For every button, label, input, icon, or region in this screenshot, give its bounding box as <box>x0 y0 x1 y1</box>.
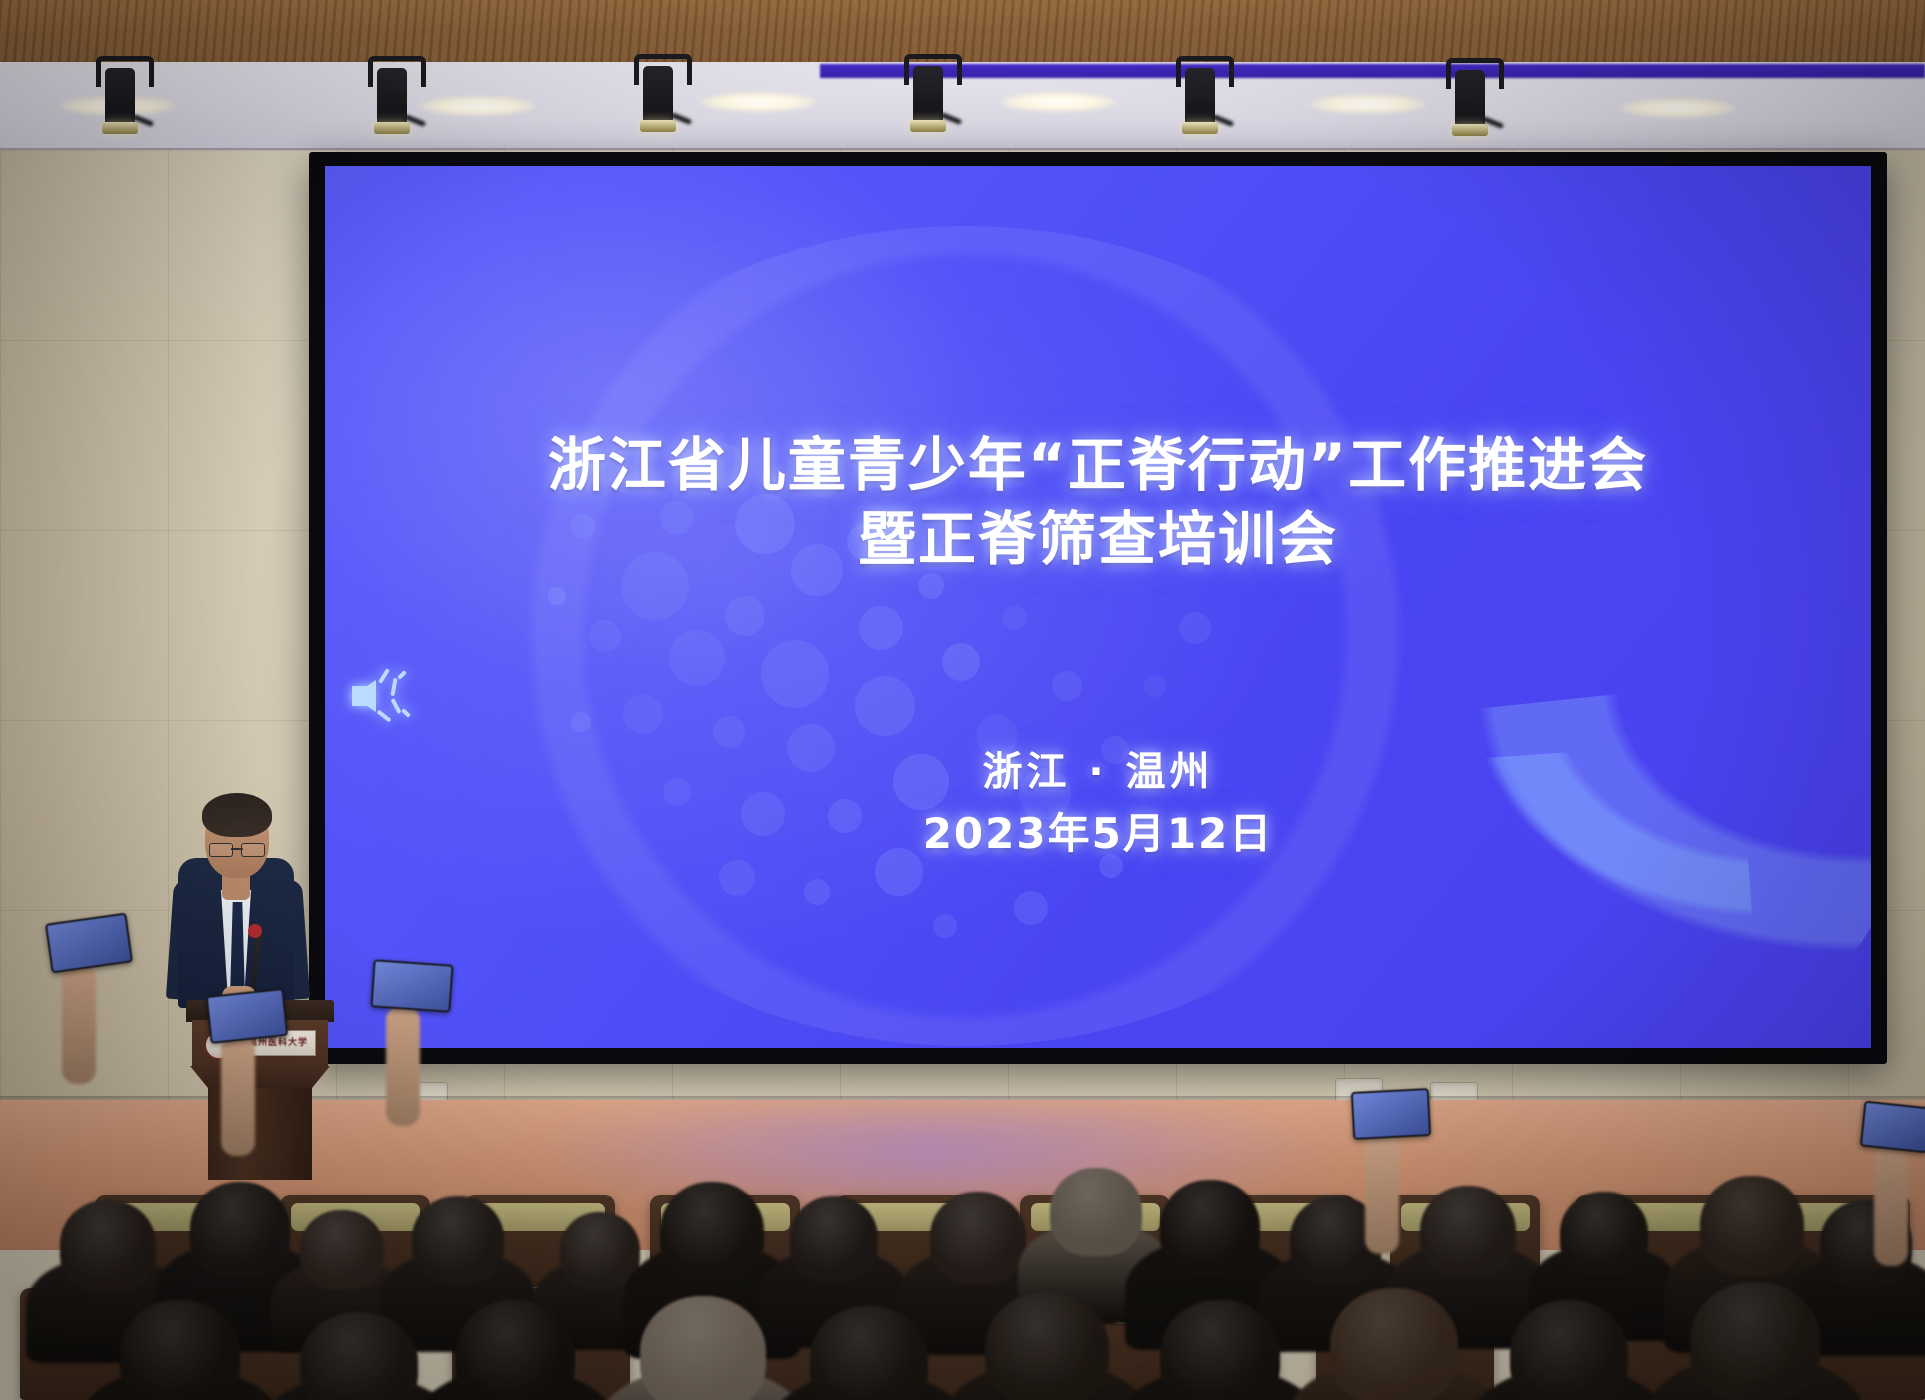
slide-date: 2023年5月12日 <box>325 806 1871 862</box>
audience-head-7 <box>790 1196 878 1282</box>
screen-bubble-16 <box>623 694 663 734</box>
screen-bubble-35 <box>548 587 566 605</box>
screen-bubble-14 <box>859 606 903 650</box>
sound-wave-5 <box>397 670 407 680</box>
screen-bubble-39 <box>1014 891 1048 925</box>
spotlight-body <box>1455 70 1485 132</box>
audience-smartphone-4 <box>1351 1088 1431 1140</box>
slide-title: 浙江省儿童青少年“正脊行动”工作推进会 暨正脊筛查培训会 <box>325 428 1871 576</box>
speaker-cone-shape <box>352 680 376 712</box>
podium-skirt <box>190 1066 330 1090</box>
audience-head-6 <box>660 1182 764 1282</box>
eyeglasses-icon <box>209 843 265 856</box>
audience-smartphone-2 <box>206 988 289 1044</box>
audience-head-17 <box>300 1312 418 1400</box>
audience-head-18 <box>455 1300 575 1400</box>
conference-photo-scene: 浙江省儿童青少年“正脊行动”工作推进会 暨正脊筛查培训会 浙江 · 温州 202… <box>0 0 1925 1400</box>
audience-head-9 <box>1050 1168 1142 1256</box>
audience-head-4 <box>412 1196 504 1284</box>
recessed-light-4 <box>1000 92 1116 112</box>
sound-wave-4 <box>376 709 391 722</box>
audience-smartphone-3 <box>370 959 453 1012</box>
audience-head-20 <box>810 1306 928 1400</box>
screen-bubble-decoration <box>325 166 1871 1048</box>
recessed-light-3 <box>700 92 816 112</box>
ceiling-blue-light-strip <box>820 64 1925 78</box>
recessed-light-5 <box>1310 94 1426 114</box>
led-screen-frame: 浙江省儿童青少年“正脊行动”工作推进会 暨正脊筛查培训会 浙江 · 温州 202… <box>309 152 1887 1064</box>
screen-bubble-21 <box>1003 606 1027 630</box>
screen-bubble-36 <box>1144 675 1166 697</box>
screen-bubble-12 <box>669 630 725 686</box>
sound-wave-2 <box>390 678 397 696</box>
sound-wave-3 <box>390 698 401 714</box>
spotlight-body <box>643 66 673 128</box>
audience-raised-arm-5 <box>1874 1146 1908 1266</box>
audience-head-25 <box>1690 1282 1820 1400</box>
screen-bubble-29 <box>804 879 830 905</box>
recessed-light-6 <box>1620 98 1736 118</box>
audience-smartphone-5 <box>1860 1101 1925 1154</box>
spotlight-body <box>105 68 135 130</box>
screen-bubble-28 <box>719 860 755 896</box>
microphone-head-icon <box>248 924 262 938</box>
spotlight-body <box>1185 68 1215 130</box>
audience-head-12 <box>1420 1186 1516 1278</box>
audience-raised-arm-1 <box>62 964 96 1084</box>
screen-bubble-15 <box>918 573 944 599</box>
spotlight-lens <box>910 120 946 132</box>
audience-head-19 <box>640 1296 766 1400</box>
sound-wave-1 <box>378 668 390 684</box>
screen-bubble-19 <box>855 676 915 736</box>
screen-bubble-13 <box>761 640 829 708</box>
audience-head-24 <box>1510 1300 1628 1400</box>
spotlight-lens <box>1452 124 1488 136</box>
audience-head-23 <box>1330 1288 1458 1400</box>
spotlight-lens <box>1182 122 1218 134</box>
screen-bubble-11 <box>589 620 621 652</box>
presenter-hair <box>202 793 272 837</box>
audience-head-16 <box>120 1300 240 1400</box>
screen-bubble-20 <box>942 643 980 681</box>
spotlight-lens <box>374 122 410 134</box>
audience-raised-arm-4 <box>1365 1134 1399 1254</box>
led-screen-display: 浙江省儿童青少年“正脊行动”工作推进会 暨正脊筛查培训会 浙江 · 温州 202… <box>325 166 1871 1048</box>
slide-title-line-2: 暨正脊筛查培训会 <box>325 502 1871 576</box>
audience-head-8 <box>930 1192 1026 1284</box>
stage-spotlight-5 <box>1172 56 1228 148</box>
stage-spotlight-1 <box>92 56 148 148</box>
slide-location: 浙江 · 温州 <box>325 744 1871 800</box>
audience-head-14 <box>1700 1176 1804 1276</box>
stage-spotlight-3 <box>630 54 686 146</box>
audience-head-13 <box>1560 1192 1648 1276</box>
slide-title-line-1: 浙江省儿童青少年“正脊行动”工作推进会 <box>325 428 1871 502</box>
screen-bubble-34 <box>571 712 591 732</box>
screen-bubble-38 <box>933 914 957 938</box>
recessed-light-2 <box>420 96 536 116</box>
spotlight-lens <box>640 120 676 132</box>
stage-spotlight-4 <box>900 54 956 146</box>
audience-head-22 <box>1160 1300 1280 1400</box>
speaker-volume-icon <box>352 664 420 728</box>
screen-bubble-27 <box>1052 671 1082 701</box>
audience-raised-arm-2 <box>221 1036 255 1156</box>
stage-spotlight-2 <box>364 56 420 148</box>
screen-bubble-37 <box>1179 612 1211 644</box>
audience-head-1 <box>60 1200 156 1292</box>
audience-head-21 <box>985 1292 1109 1400</box>
stage-spotlight-6 <box>1442 58 1498 150</box>
spotlight-body <box>377 68 407 130</box>
audience-head-10 <box>1160 1180 1260 1276</box>
screen-bubble-8 <box>725 596 765 636</box>
spotlight-body <box>913 66 943 128</box>
audience-head-2 <box>190 1182 290 1278</box>
sound-wave-6 <box>401 708 411 718</box>
audience-raised-arm-3 <box>386 1006 420 1126</box>
spotlight-lens <box>102 122 138 134</box>
audience-head-3 <box>300 1210 384 1290</box>
